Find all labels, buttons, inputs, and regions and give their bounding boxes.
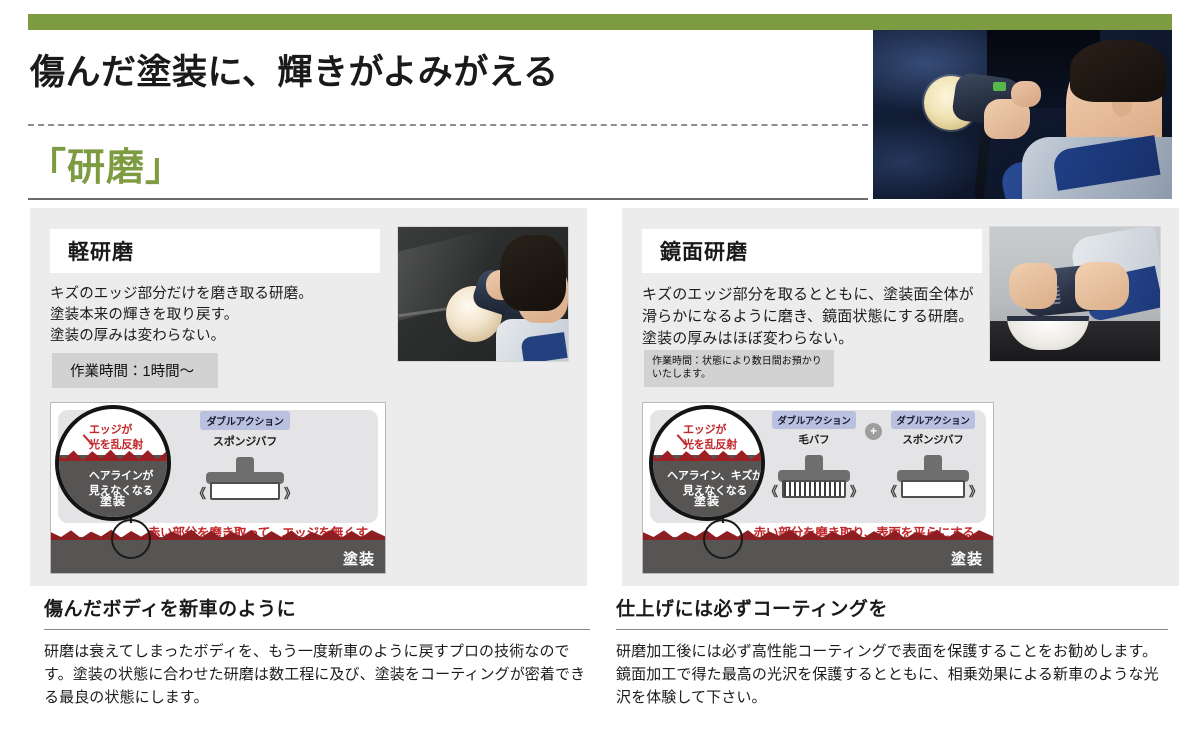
bubble-paint-label: 塗装 <box>653 492 761 509</box>
tool-badge-double-action: ダブルアクション <box>772 411 855 429</box>
card-light-polish-photo <box>397 226 569 362</box>
bubble-paint-label: 塗装 <box>59 492 167 509</box>
diagram-paint-layer: 塗装 <box>643 537 993 573</box>
diagram-tool-list: ダブルアクション スポンジバフ 《 》 <box>197 411 293 503</box>
tool-plus-icon: + <box>865 423 882 440</box>
tool-label-sponge-buff: スポンジバフ <box>890 432 976 447</box>
tool-oscillation-arrow-right: 》 <box>284 483 297 502</box>
header-green-bar <box>28 14 1172 30</box>
bottom-divider <box>616 629 1168 630</box>
bottom-section-coating-finish: 仕上げには必ずコーティングを 研磨加工後には必ず高性能コーティングで表面を保護す… <box>616 594 1168 709</box>
tool-pad-sponge <box>901 480 965 498</box>
bottom-heading: 傷んだボディを新車のように <box>44 594 590 621</box>
tool-pad-wool <box>782 480 846 498</box>
desc-line: キズのエッジ部分を取るとともに、塗装面全体が <box>642 284 974 306</box>
page-subtitle: 「研磨」 <box>28 136 184 191</box>
card-mirror-polish-time-tag: 作業時間：状態により数日間お預かりいたします。 <box>644 350 834 387</box>
bottom-divider <box>44 629 590 630</box>
diagram-mirror-polish: ダブルアクション 毛バフ 《 》 + ダブルアクション スポン <box>642 402 994 574</box>
card-mirror-polish-description: キズのエッジ部分を取るとともに、塗装面全体が 滑らかになるように磨き、鏡面状態に… <box>642 284 974 350</box>
header-solid-divider <box>28 198 868 200</box>
tool-sponge-buff: ダブルアクション スポンジバフ 《 》 <box>197 411 293 503</box>
card-light-polish-time-tag: 作業時間：1時間〜 <box>52 353 218 388</box>
header-photo-hair <box>1070 40 1166 102</box>
photo-shirt-blue <box>520 332 567 362</box>
photo-hand-right <box>1075 262 1129 310</box>
tool-shape-sponge-buff: 《 》 <box>206 457 284 503</box>
tool-sponge-buff: ダブルアクション スポンジバフ 《 》 <box>890 411 976 501</box>
bottom-body-text: 研磨加工後には必ず高性能コーティングで表面を保護することをお勧めします。鏡面加工… <box>616 640 1168 709</box>
header-dashed-divider <box>28 124 868 126</box>
card-light-polish-description: キズのエッジ部分だけを磨き取る研磨。 塗装本来の輝きを取り戻す。 塗装の厚みは変… <box>50 284 313 347</box>
diagram-zoom-marker <box>703 519 743 559</box>
tool-shape-wool-buff: 《 》 <box>778 455 850 501</box>
tool-label-sponge-buff: スポンジバフ <box>197 433 293 449</box>
bottom-sections: 傷んだボディを新車のように 研磨は衰えてしまったボディを、もう一度新車のように戻… <box>0 594 1200 746</box>
tool-oscillation-arrow-left: 《 <box>884 481 897 500</box>
diagram-paint-label: 塗装 <box>343 548 375 569</box>
diagram-magnifier-bubble: エッジが光を乱反射 ヘアラインが見えなくなる 塗装 <box>55 405 171 521</box>
tool-oscillation-arrow-right: 》 <box>850 481 863 500</box>
diagram-paint-label: 塗装 <box>951 548 983 569</box>
desc-line: 滑らかになるように磨き、鏡面状態にする研磨。 <box>642 306 974 328</box>
service-cards-row: 軽研磨 キズのエッジ部分だけを磨き取る研磨。 塗装本来の輝きを取り戻す。 塗装の… <box>0 208 1200 586</box>
diagram-light-polish: ダブルアクション スポンジバフ 《 》 赤い部分を磨き取って、エッジを無くす。 <box>50 402 386 574</box>
diagram-tool-list: ダブルアクション 毛バフ 《 》 + ダブルアクション スポン <box>771 411 976 501</box>
desc-line: 塗装の厚みはほぼ変わらない。 <box>642 328 974 350</box>
diagram-magnifier-bubble: エッジが光を乱反射 ヘアライン、キズが見えなくなる 塗装 <box>649 405 765 521</box>
card-mirror-polish-photo <box>989 226 1161 362</box>
bottom-heading: 仕上げには必ずコーティングを <box>616 594 1168 621</box>
header-photo <box>873 30 1172 199</box>
desc-line: 塗装本来の輝きを取り戻す。 <box>50 305 313 326</box>
card-light-polish: 軽研磨 キズのエッジ部分だけを磨き取る研磨。 塗装本来の輝きを取り戻す。 塗装の… <box>30 208 587 586</box>
tool-badge-double-action: ダブルアクション <box>200 411 289 430</box>
diagram-paint-layer: 塗装 <box>51 537 385 573</box>
tool-pad-sponge <box>210 482 280 500</box>
card-mirror-polish-title: 鏡面研磨 <box>642 229 982 273</box>
tool-oscillation-arrow-left: 《 <box>193 483 206 502</box>
page-title: 傷んだ塗装に、輝きがよみがえる <box>30 44 559 95</box>
header-photo-hand-upper <box>1011 81 1041 107</box>
page-root: 傷んだ塗装に、輝きがよみがえる 「研磨」 軽研磨 キズのエッジ部分だ <box>0 0 1200 746</box>
desc-line: 塗装の厚みは変わらない。 <box>50 326 313 347</box>
page-header: 傷んだ塗装に、輝きがよみがえる 「研磨」 <box>28 14 1172 200</box>
bubble-edge-label: エッジが光を乱反射 <box>89 423 143 453</box>
photo-hand-left <box>1009 263 1057 309</box>
card-light-polish-title: 軽研磨 <box>50 229 380 273</box>
diagram-zoom-marker <box>111 519 151 559</box>
bubble-edge-label: エッジが光を乱反射 <box>683 423 737 453</box>
card-mirror-polish: 鏡面研磨 キズのエッジ部分を取るとともに、塗装面全体が 滑らかになるように磨き、… <box>622 208 1179 586</box>
desc-line: キズのエッジ部分だけを磨き取る研磨。 <box>50 284 313 305</box>
bottom-section-body-like-new: 傷んだボディを新車のように 研磨は衰えてしまったボディを、もう一度新車のように戻… <box>44 594 590 709</box>
tool-badge-double-action: ダブルアクション <box>891 411 974 429</box>
tool-oscillation-arrow-right: 》 <box>969 481 982 500</box>
tool-wool-buff: ダブルアクション 毛バフ 《 》 <box>771 411 857 501</box>
tool-oscillation-arrow-left: 《 <box>765 481 778 500</box>
tool-label-wool-buff: 毛バフ <box>771 432 857 447</box>
tool-shape-sponge-buff: 《 》 <box>897 455 969 501</box>
header-photo-tool-led <box>993 82 1006 91</box>
photo-hair <box>500 235 566 311</box>
bottom-body-text: 研磨は衰えてしまったボディを、もう一度新車のように戻すプロの技術なのです。塗装の… <box>44 640 590 709</box>
